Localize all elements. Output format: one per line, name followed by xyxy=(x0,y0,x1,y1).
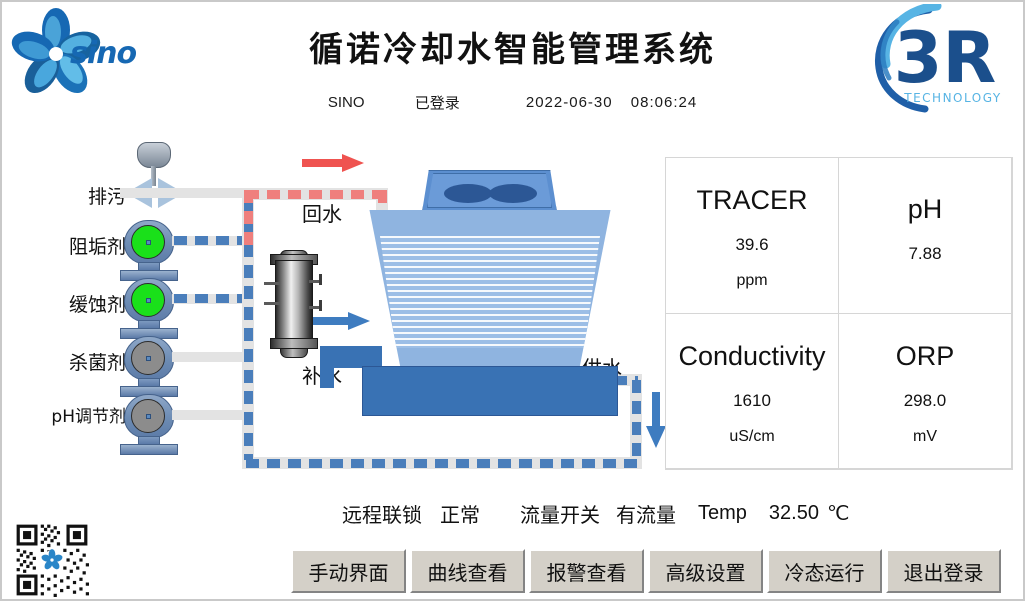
label-corrosion-inhibitor: 缓蚀剂 xyxy=(18,290,126,317)
dose-flow-corrosion-inhibitor xyxy=(174,294,248,303)
advanced-settings-button[interactable]: 高级设置 xyxy=(648,549,763,593)
measurement-name: Conductivity xyxy=(678,340,825,374)
alarm-view-button[interactable]: 报警查看 xyxy=(529,549,644,593)
3r-technology-logo: 3R TECHNOLOGY xyxy=(867,4,1017,116)
hx-nozzle-left-upper xyxy=(264,282,280,285)
measurement-panel: TRACER 39.6 ppm pH 7.88 Conductivity 161… xyxy=(665,157,1013,470)
measurement-name: pH xyxy=(908,193,943,227)
cooling-tower xyxy=(342,170,642,420)
action-button-bar: 手动界面 曲线查看 报警查看 高级设置 冷态运行 退出登录 xyxy=(291,549,1001,593)
status-bar: 远程联锁 正常 流量开关 有流量 Temp 32.50 ℃ xyxy=(342,496,1018,530)
temperature-label: Temp xyxy=(698,502,747,525)
qr-code[interactable] xyxy=(6,523,98,597)
flow-switch-label: 流量开关 xyxy=(520,499,600,528)
flow-switch-value: 有流量 xyxy=(616,499,676,528)
measurement-unit: uS/cm xyxy=(729,428,774,446)
measurement-value: 39.6 xyxy=(735,235,768,255)
heat-exchanger-icon[interactable] xyxy=(264,250,324,360)
measurement-conductivity[interactable]: Conductivity 1610 uS/cm xyxy=(665,313,839,470)
user-name: SINO xyxy=(328,94,365,111)
curve-view-button[interactable]: 曲线查看 xyxy=(410,549,525,593)
measurement-unit: mV xyxy=(913,428,937,446)
pump-center-dot xyxy=(146,298,151,303)
temperature-unit: ℃ xyxy=(827,501,849,526)
measurement-orp[interactable]: ORP 298.0 mV xyxy=(838,313,1012,470)
qr-code-icon xyxy=(6,523,98,597)
measurement-value: 1610 xyxy=(733,391,771,411)
label-biocide: 杀菌剂 xyxy=(18,348,126,375)
valve-actuator xyxy=(137,142,171,168)
remote-interlock-label: 远程联锁 xyxy=(342,499,422,528)
cooling-tower-body xyxy=(359,210,621,370)
makeup-inlet-pipe-v xyxy=(320,346,334,388)
return-water-label: 回水 xyxy=(302,198,342,227)
loop-bottom-flow xyxy=(246,459,638,468)
dose-pipe-3 xyxy=(172,352,250,362)
3r-logo-icon: 3R TECHNOLOGY xyxy=(867,4,1017,116)
dose-pipe-4 xyxy=(172,410,250,420)
measurement-ph[interactable]: pH 7.88 xyxy=(838,157,1012,314)
pump-ph-adjuster[interactable] xyxy=(120,394,178,456)
fan-blade-right xyxy=(489,184,537,203)
pump-center-dot xyxy=(146,414,151,419)
measurement-value: 298.0 xyxy=(904,391,947,411)
manual-interface-button[interactable]: 手动界面 xyxy=(291,549,406,593)
pump-base xyxy=(120,444,178,455)
measurement-name: TRACER xyxy=(696,184,807,218)
3r-logo-subtext: TECHNOLOGY xyxy=(903,91,1001,105)
fan-blade-left xyxy=(444,184,492,203)
label-ph-adjuster: pH调节剂 xyxy=(10,402,126,427)
hx-nozzle-left-lower xyxy=(264,302,280,305)
label-blowdown: 排污 xyxy=(18,182,126,209)
svg-text:3R: 3R xyxy=(894,17,997,99)
supply-flow-arrow xyxy=(646,392,666,448)
temperature-value: 32.50 xyxy=(769,502,819,525)
cooling-tower-fan-deck xyxy=(422,170,557,212)
cooling-tower-fill-media xyxy=(359,236,621,348)
header: sino 循诺冷却水智能管理系统 SINO 已登录 2022-06-30 08:… xyxy=(2,2,1023,127)
measurement-name: ORP xyxy=(896,340,955,374)
cooling-tower-basin xyxy=(362,366,618,416)
pump-biocide[interactable] xyxy=(120,336,178,398)
logout-button[interactable]: 退出登录 xyxy=(886,549,1001,593)
return-flow-left xyxy=(244,190,253,252)
measurement-unit: ppm xyxy=(736,272,767,290)
remote-interlock-value: 正常 xyxy=(440,499,480,528)
measurement-tracer[interactable]: TRACER 39.6 ppm xyxy=(665,157,839,314)
dose-flow-antiscalant xyxy=(174,236,248,245)
current-date: 2022-06-30 xyxy=(526,94,613,111)
pump-corrosion-inhibitor[interactable] xyxy=(120,278,178,340)
current-time: 08:06:24 xyxy=(631,94,697,111)
pump-center-dot xyxy=(146,356,151,361)
hx-flange-right-upper xyxy=(319,274,322,285)
blowdown-pipe xyxy=(120,188,242,198)
pump-antiscalant[interactable] xyxy=(120,220,178,282)
application-window: sino 循诺冷却水智能管理系统 SINO 已登录 2022-06-30 08:… xyxy=(0,0,1025,601)
label-antiscalant: 阻垢剂 xyxy=(18,232,126,259)
hx-flange-right-lower xyxy=(319,300,322,311)
login-status: 已登录 xyxy=(415,92,460,113)
pump-center-dot xyxy=(146,240,151,245)
measurement-value: 7.88 xyxy=(908,244,941,264)
hx-foot xyxy=(280,348,308,358)
cold-run-button[interactable]: 冷态运行 xyxy=(767,549,882,593)
hx-shell xyxy=(275,260,313,342)
